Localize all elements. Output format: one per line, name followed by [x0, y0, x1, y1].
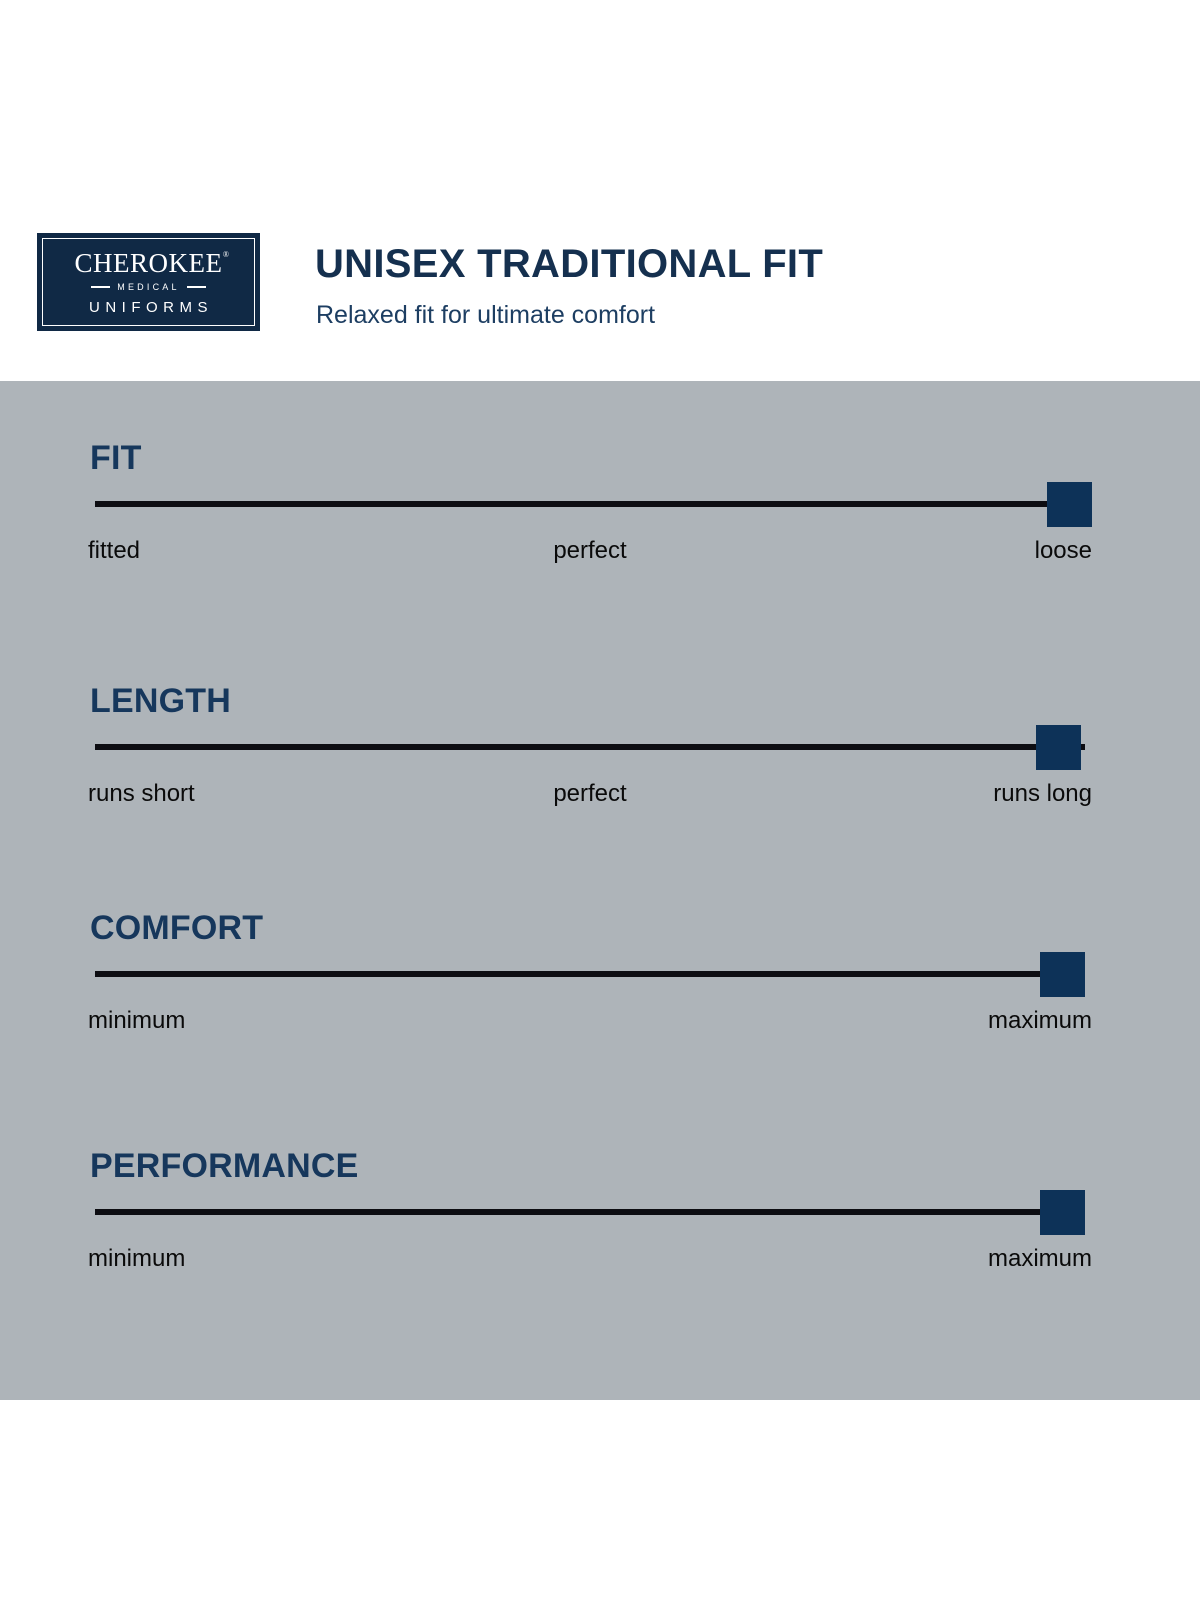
- scale-performance-label-left: minimum: [88, 1247, 185, 1271]
- scale-length-handle[interactable]: [1036, 725, 1081, 770]
- scale-length-label-mid: perfect: [553, 782, 626, 806]
- scale-fit-title: FIT: [90, 441, 142, 475]
- fit-guide-page: CHEROKEE® MEDICAL UNIFORMS UNISEX TRADIT…: [0, 0, 1200, 1600]
- scale-fit-track[interactable]: [95, 501, 1085, 507]
- page-subtitle: Relaxed fit for ultimate comfort: [316, 300, 655, 330]
- scale-fit-track-wrap[interactable]: [95, 501, 1085, 507]
- scale-length-label-right: runs long: [993, 782, 1092, 806]
- cherokee-logo: CHEROKEE® MEDICAL UNIFORMS: [37, 233, 260, 331]
- logo-inner-frame: CHEROKEE® MEDICAL UNIFORMS: [42, 238, 255, 326]
- scale-performance-label-right: maximum: [988, 1247, 1092, 1271]
- scale-comfort-label-right: maximum: [988, 1009, 1092, 1033]
- page-title: UNISEX TRADITIONAL FIT: [315, 243, 823, 285]
- scale-length-title: LENGTH: [90, 684, 231, 718]
- logo-medical-row: MEDICAL: [91, 283, 205, 292]
- scale-performance-track[interactable]: [95, 1209, 1085, 1215]
- scale-length-track[interactable]: [95, 744, 1085, 750]
- scale-comfort-labels: minimum maximum: [88, 1009, 1092, 1033]
- scale-comfort-label-left: minimum: [88, 1009, 185, 1033]
- scale-fit-label-mid: perfect: [553, 539, 626, 563]
- scale-length-labels: runs short perfect runs long: [88, 782, 1092, 806]
- scale-performance-track-wrap[interactable]: [95, 1209, 1085, 1215]
- logo-rule-right-icon: [187, 286, 206, 288]
- logo-brand-name: CHEROKEE®: [75, 250, 223, 277]
- scale-fit-label-right: loose: [1035, 539, 1092, 563]
- scale-performance-title: PERFORMANCE: [90, 1149, 359, 1183]
- scale-length-track-wrap[interactable]: [95, 744, 1085, 750]
- scale-comfort-title: COMFORT: [90, 911, 263, 945]
- logo-rule-left-icon: [91, 286, 110, 288]
- scale-comfort-track-wrap[interactable]: [95, 971, 1085, 977]
- scale-performance-labels: minimum maximum: [88, 1247, 1092, 1271]
- registered-trademark-icon: ®: [223, 251, 230, 259]
- scale-fit-handle[interactable]: [1047, 482, 1092, 527]
- scale-fit-labels: fitted perfect loose: [88, 539, 1092, 563]
- logo-brand-text: CHEROKEE: [75, 248, 223, 278]
- scale-fit-label-left: fitted: [88, 539, 140, 563]
- scale-performance-handle[interactable]: [1040, 1190, 1085, 1235]
- page-header: CHEROKEE® MEDICAL UNIFORMS UNISEX TRADIT…: [0, 0, 1200, 381]
- scale-length-label-left: runs short: [88, 782, 195, 806]
- scale-comfort-track[interactable]: [95, 971, 1085, 977]
- scale-comfort-handle[interactable]: [1040, 952, 1085, 997]
- logo-uniforms-text: UNIFORMS: [84, 300, 213, 315]
- fit-scales-panel: FIT fitted perfect loose LENGTH runs sho…: [0, 381, 1200, 1400]
- logo-medical-text: MEDICAL: [117, 283, 179, 292]
